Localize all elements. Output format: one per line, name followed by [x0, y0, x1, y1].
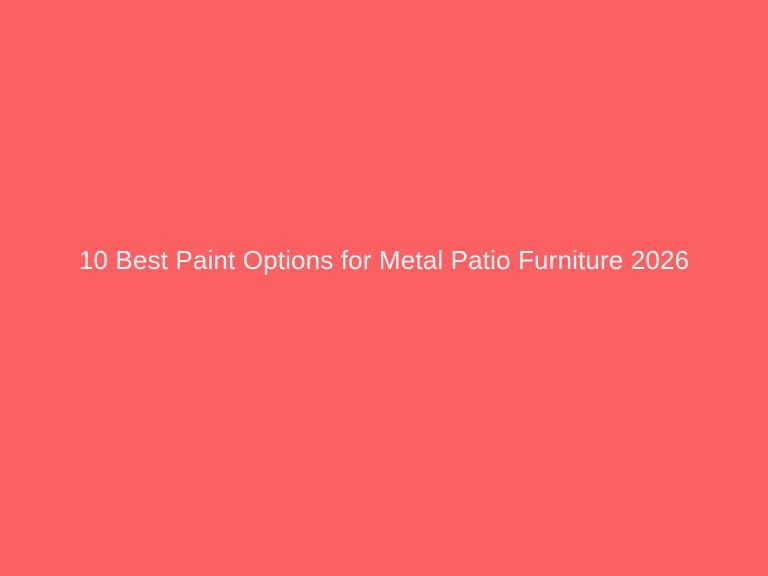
page-title: 10 Best Paint Options for Metal Patio Fu… — [28, 238, 740, 283]
title-block: 10 Best Paint Options for Metal Patio Fu… — [0, 238, 768, 283]
article-card-canvas: 10 Best Paint Options for Metal Patio Fu… — [0, 0, 768, 576]
